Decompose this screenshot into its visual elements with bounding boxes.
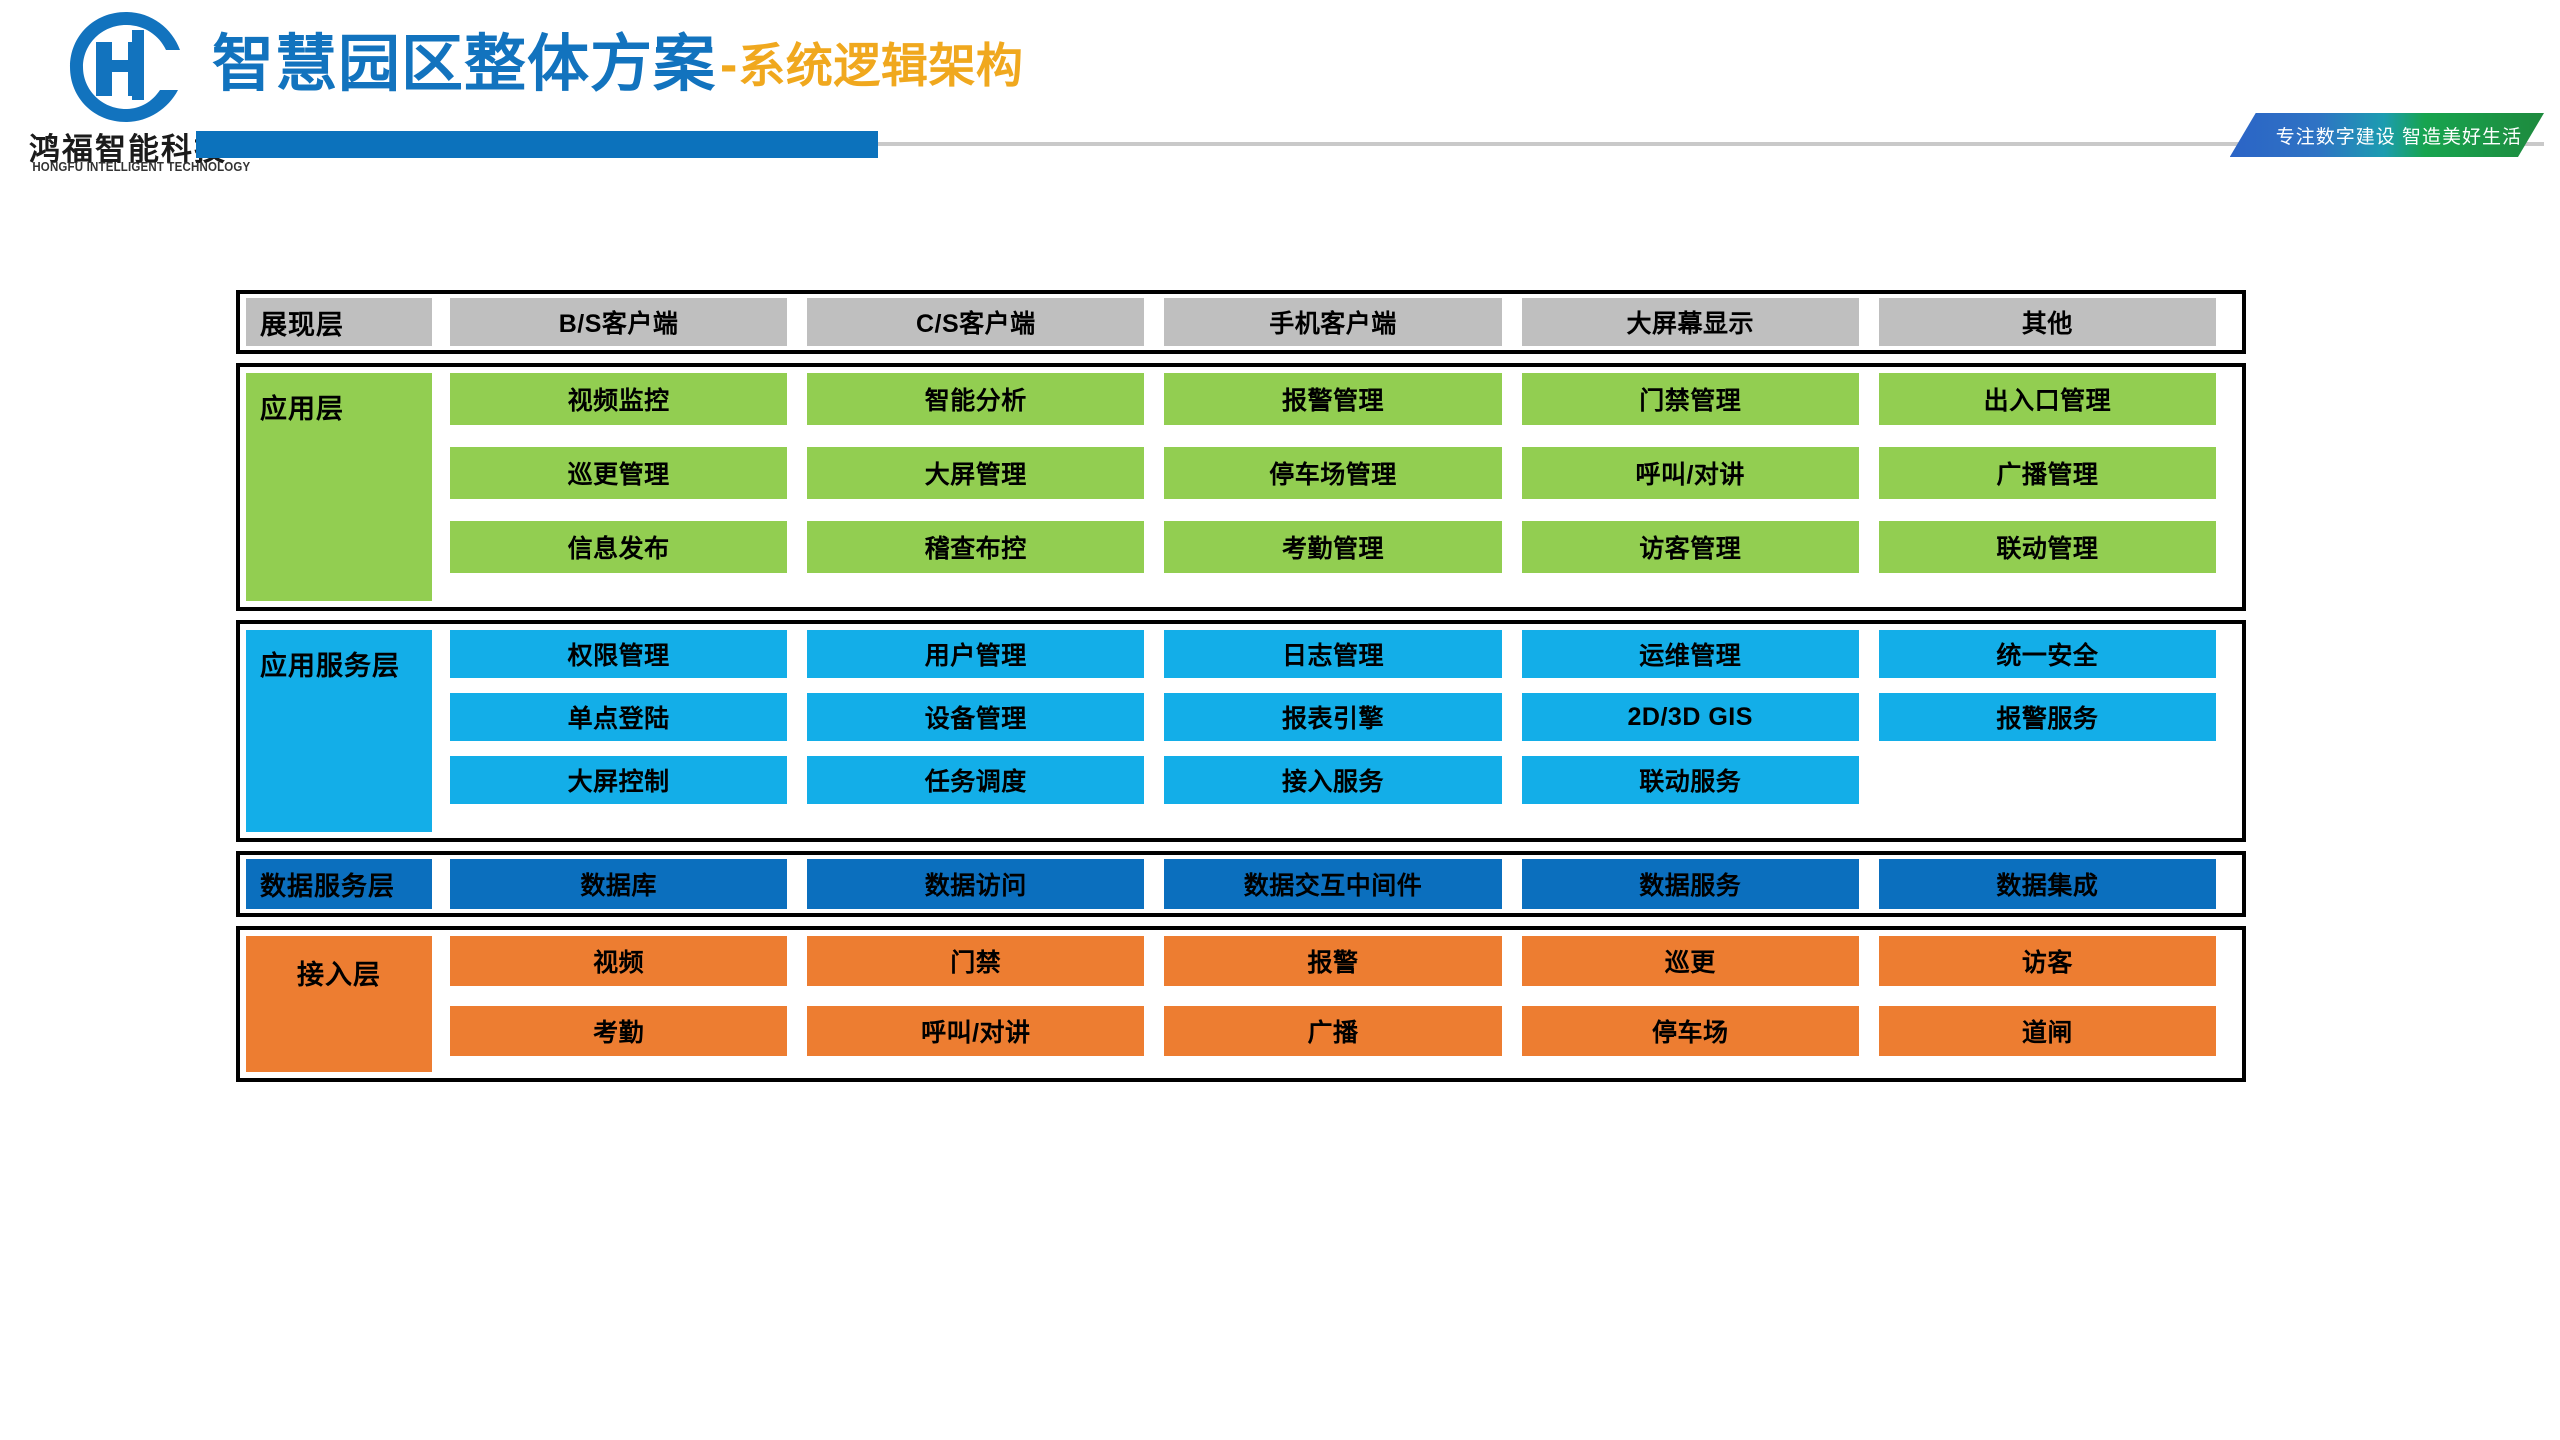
layer-label-application: 应用层 xyxy=(246,373,432,601)
layer-label-access: 接入层 xyxy=(246,936,432,1072)
layer-row: B/S客户端 C/S客户端 手机客户端 大屏幕显示 其他 xyxy=(432,298,2242,346)
layer-row: 大屏控制 任务调度 接入服务 联动服务 xyxy=(432,756,2242,804)
module-cell[interactable]: 报警服务 xyxy=(1879,693,2216,741)
module-cell[interactable]: 道闸 xyxy=(1879,1006,2216,1056)
module-cell[interactable]: 手机客户端 xyxy=(1164,298,1501,346)
module-cell[interactable]: 巡更 xyxy=(1522,936,1859,986)
page-title-separator: - xyxy=(720,39,737,91)
module-cell[interactable]: 视频监控 xyxy=(450,373,787,425)
architecture-diagram: 展现层 B/S客户端 C/S客户端 手机客户端 大屏幕显示 其他 应用层 视频监… xyxy=(236,290,2246,1082)
hongfu-circle-h-logo-icon xyxy=(60,8,192,126)
layer-label-presentation: 展现层 xyxy=(246,298,432,346)
module-cell[interactable]: 智能分析 xyxy=(807,373,1144,425)
module-cell[interactable]: 访客管理 xyxy=(1522,521,1859,573)
module-cell[interactable]: 接入服务 xyxy=(1164,756,1501,804)
layer-row: 视频 门禁 报警 巡更 访客 xyxy=(432,936,2242,986)
layer-row: 信息发布 稽查布控 考勤管理 访客管理 联动管理 xyxy=(432,521,2242,573)
module-cell[interactable]: 数据交互中间件 xyxy=(1164,859,1501,909)
module-cell[interactable]: 2D/3D GIS xyxy=(1522,693,1859,741)
layer-application-service: 应用服务层 权限管理 用户管理 日志管理 运维管理 统一安全 单点登陆 设备管理… xyxy=(236,620,2246,842)
page-title: 智慧园区整体方案 - 系统逻辑架构 xyxy=(212,20,1023,110)
layer-grid-application-service: 权限管理 用户管理 日志管理 运维管理 统一安全 单点登陆 设备管理 报表引擎 … xyxy=(432,624,2242,838)
module-cell[interactable]: 其他 xyxy=(1879,298,2216,346)
module-cell[interactable]: 报警 xyxy=(1164,936,1501,986)
header-tagline-text: 专注数字建设 智造美好生活 xyxy=(2276,122,2522,149)
module-cell[interactable]: 日志管理 xyxy=(1164,630,1501,678)
module-cell[interactable]: 数据集成 xyxy=(1879,859,2216,909)
module-cell[interactable]: B/S客户端 xyxy=(450,298,787,346)
page-title-main: 智慧园区整体方案 xyxy=(212,34,716,96)
module-cell[interactable]: 数据访问 xyxy=(807,859,1144,909)
module-cell[interactable]: 访客 xyxy=(1879,936,2216,986)
module-cell[interactable]: 数据库 xyxy=(450,859,787,909)
layer-data-service: 数据服务层 数据库 数据访问 数据交互中间件 数据服务 数据集成 xyxy=(236,851,2246,917)
layer-application: 应用层 视频监控 智能分析 报警管理 门禁管理 出入口管理 巡更管理 大屏管理 … xyxy=(236,363,2246,611)
module-cell[interactable]: 报表引擎 xyxy=(1164,693,1501,741)
module-cell[interactable]: 运维管理 xyxy=(1522,630,1859,678)
module-cell[interactable]: 门禁 xyxy=(807,936,1144,986)
layer-label-application-service: 应用服务层 xyxy=(246,630,432,832)
module-cell[interactable]: 门禁管理 xyxy=(1522,373,1859,425)
module-cell[interactable]: 考勤管理 xyxy=(1164,521,1501,573)
layer-grid-application: 视频监控 智能分析 报警管理 门禁管理 出入口管理 巡更管理 大屏管理 停车场管… xyxy=(432,367,2242,607)
module-cell[interactable]: 呼叫/对讲 xyxy=(807,1006,1144,1056)
layer-grid-data-service: 数据库 数据访问 数据交互中间件 数据服务 数据集成 xyxy=(432,859,2242,909)
layer-row: 视频监控 智能分析 报警管理 门禁管理 出入口管理 xyxy=(432,373,2242,425)
module-cell[interactable]: 统一安全 xyxy=(1879,630,2216,678)
module-cell[interactable]: 报警管理 xyxy=(1164,373,1501,425)
module-cell[interactable]: 大屏管理 xyxy=(807,447,1144,499)
module-cell[interactable]: 考勤 xyxy=(450,1006,787,1056)
layer-row: 考勤 呼叫/对讲 广播 停车场 道闸 xyxy=(432,1006,2242,1056)
module-cell[interactable]: 广播 xyxy=(1164,1006,1501,1056)
layer-grid-access: 视频 门禁 报警 巡更 访客 考勤 呼叫/对讲 广播 停车场 道闸 xyxy=(432,930,2242,1078)
module-cell[interactable]: 停车场 xyxy=(1522,1006,1859,1056)
module-cell-empty xyxy=(1879,756,2216,804)
module-cell[interactable]: C/S客户端 xyxy=(807,298,1144,346)
module-cell[interactable]: 呼叫/对讲 xyxy=(1522,447,1859,499)
module-cell[interactable]: 单点登陆 xyxy=(450,693,787,741)
layer-access: 接入层 视频 门禁 报警 巡更 访客 考勤 呼叫/对讲 广播 停车场 道闸 xyxy=(236,926,2246,1082)
module-cell[interactable]: 出入口管理 xyxy=(1879,373,2216,425)
module-cell[interactable]: 停车场管理 xyxy=(1164,447,1501,499)
layer-grid-presentation: B/S客户端 C/S客户端 手机客户端 大屏幕显示 其他 xyxy=(432,298,2242,346)
module-cell[interactable]: 大屏幕显示 xyxy=(1522,298,1859,346)
layer-row: 单点登陆 设备管理 报表引擎 2D/3D GIS 报警服务 xyxy=(432,693,2242,741)
module-cell[interactable]: 用户管理 xyxy=(807,630,1144,678)
module-cell[interactable]: 任务调度 xyxy=(807,756,1144,804)
layer-label-data-service: 数据服务层 xyxy=(246,859,432,909)
layer-row: 权限管理 用户管理 日志管理 运维管理 统一安全 xyxy=(432,630,2242,678)
header-blue-rule xyxy=(196,131,878,158)
module-cell[interactable]: 稽查布控 xyxy=(807,521,1144,573)
layer-row: 巡更管理 大屏管理 停车场管理 呼叫/对讲 广播管理 xyxy=(432,447,2242,499)
module-cell[interactable]: 数据服务 xyxy=(1522,859,1859,909)
module-cell[interactable]: 信息发布 xyxy=(450,521,787,573)
module-cell[interactable]: 广播管理 xyxy=(1879,447,2216,499)
page-title-sub: 系统逻辑架构 xyxy=(738,42,1023,89)
layer-presentation: 展现层 B/S客户端 C/S客户端 手机客户端 大屏幕显示 其他 xyxy=(236,290,2246,354)
module-cell[interactable]: 权限管理 xyxy=(450,630,787,678)
module-cell[interactable]: 设备管理 xyxy=(807,693,1144,741)
header-tagline-banner: 专注数字建设 智造美好生活 xyxy=(2230,113,2544,157)
module-cell[interactable]: 联动服务 xyxy=(1522,756,1859,804)
module-cell[interactable]: 巡更管理 xyxy=(450,447,787,499)
company-name-en: HONGFU INTELLIGENT TECHNOLOGY xyxy=(32,160,223,174)
page-header: 鸿福智能科技 HONGFU INTELLIGENT TECHNOLOGY 智慧园… xyxy=(0,0,2560,180)
module-cell[interactable]: 视频 xyxy=(450,936,787,986)
layer-row: 数据库 数据访问 数据交互中间件 数据服务 数据集成 xyxy=(432,859,2242,909)
module-cell[interactable]: 联动管理 xyxy=(1879,521,2216,573)
module-cell[interactable]: 大屏控制 xyxy=(450,756,787,804)
